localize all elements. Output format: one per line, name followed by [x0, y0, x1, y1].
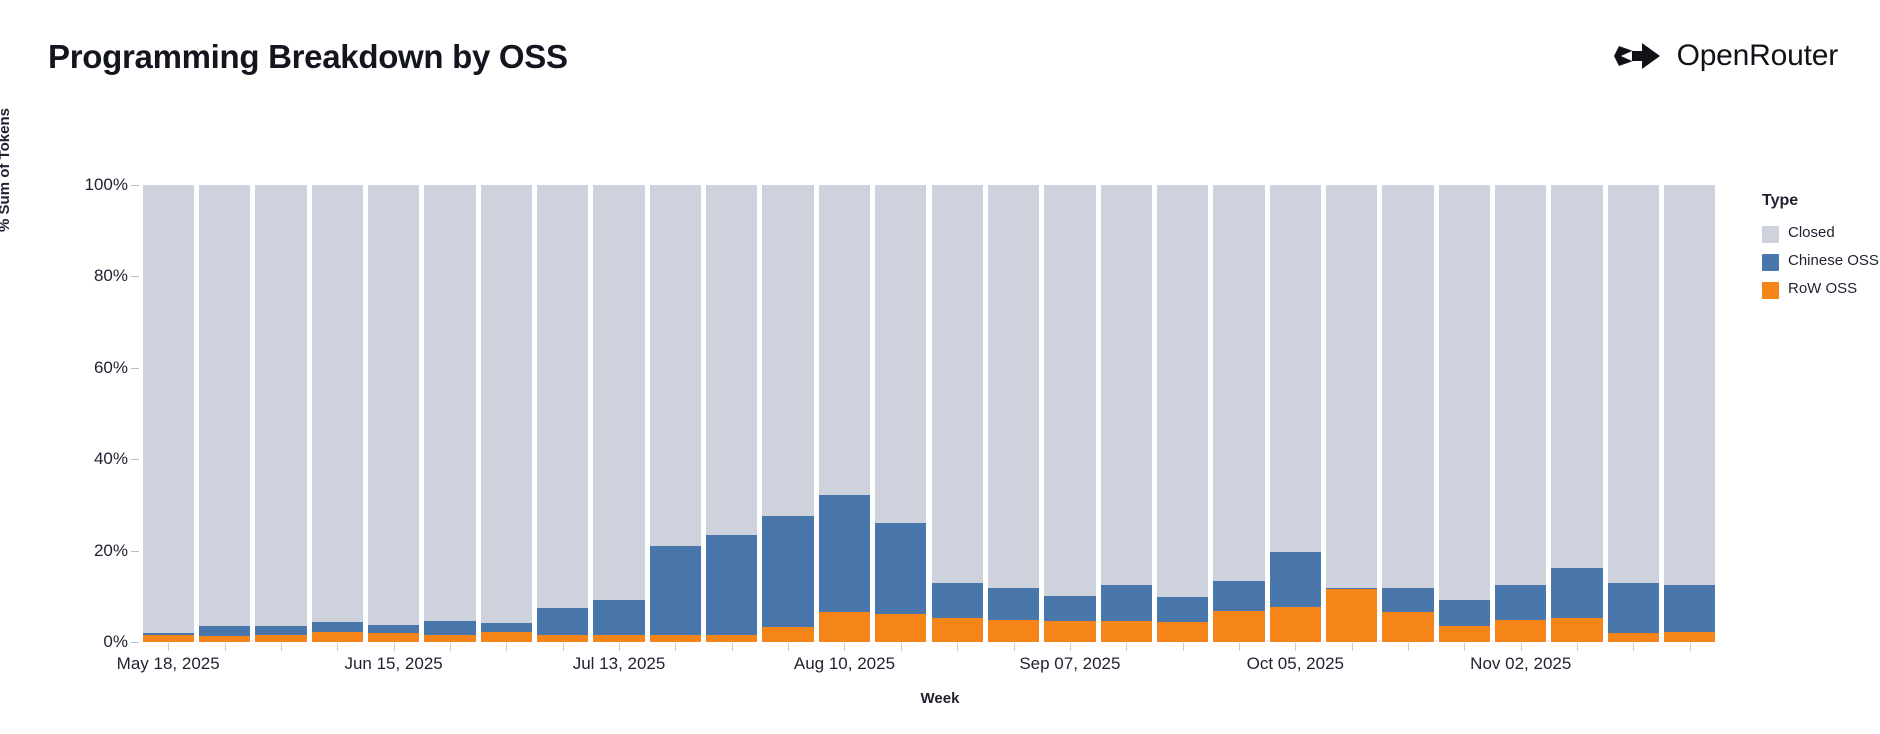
x-tick-label: Aug 10, 2025: [794, 654, 895, 674]
bar-segment-chinese-oss[interactable]: [762, 516, 813, 627]
bar-segment-chinese-oss[interactable]: [1157, 597, 1208, 622]
bar-group[interactable]: [537, 185, 588, 642]
x-tick-mark: [281, 643, 282, 651]
y-axis-title: % Sum of Tokens: [0, 40, 13, 300]
bar-segment-closed[interactable]: [762, 185, 813, 516]
bar-segment-closed[interactable]: [988, 185, 1039, 588]
bar-group[interactable]: [1270, 185, 1321, 642]
bar-segment-chinese-oss[interactable]: [312, 622, 363, 632]
y-tick-mark: [131, 551, 139, 552]
bar-segment-closed[interactable]: [593, 185, 644, 599]
bar-segment-row-oss[interactable]: [1044, 621, 1095, 642]
bar-segment-chinese-oss[interactable]: [932, 583, 983, 618]
bar-segment-row-oss[interactable]: [932, 618, 983, 642]
bar-segment-chinese-oss[interactable]: [1382, 588, 1433, 612]
bar-segment-chinese-oss[interactable]: [143, 633, 194, 635]
bar-group[interactable]: [988, 185, 1039, 642]
bar-segment-closed[interactable]: [368, 185, 419, 625]
bar-segment-row-oss[interactable]: [312, 632, 363, 642]
bar-segment-closed[interactable]: [650, 185, 701, 546]
bar-segment-chinese-oss[interactable]: [1101, 585, 1152, 621]
x-tick-mark: [1577, 643, 1578, 651]
bar-segment-closed[interactable]: [312, 185, 363, 622]
bar-segment-chinese-oss[interactable]: [368, 625, 419, 634]
y-tick-label: 0%: [42, 632, 128, 652]
x-tick-label: Jun 15, 2025: [344, 654, 442, 674]
x-tick-mark: [619, 643, 620, 651]
bar-segment-chinese-oss[interactable]: [1044, 596, 1095, 621]
bar-segment-closed[interactable]: [481, 185, 532, 623]
bar-segment-closed[interactable]: [143, 185, 194, 633]
bar-segment-closed[interactable]: [1664, 185, 1715, 585]
bar-segment-row-oss[interactable]: [1495, 620, 1546, 642]
bar-segment-closed[interactable]: [1551, 185, 1602, 568]
bar-segment-closed[interactable]: [1044, 185, 1095, 596]
x-tick-mark: [1352, 643, 1353, 651]
bar-segment-closed[interactable]: [706, 185, 757, 535]
y-tick-label: 60%: [42, 358, 128, 378]
bar-segment-row-oss[interactable]: [819, 612, 870, 642]
bar-segment-row-oss[interactable]: [1157, 622, 1208, 642]
bar-segment-row-oss[interactable]: [537, 635, 588, 642]
bar-segment-closed[interactable]: [1157, 185, 1208, 597]
bar-segment-row-oss[interactable]: [1608, 633, 1659, 642]
x-tick-mark: [450, 643, 451, 651]
bar-segment-row-oss[interactable]: [199, 636, 250, 642]
bar-segment-row-oss[interactable]: [1551, 618, 1602, 642]
y-tick-label: 100%: [42, 175, 128, 195]
y-tick-mark: [131, 276, 139, 277]
bar-segment-closed[interactable]: [1326, 185, 1377, 588]
x-tick-mark: [1295, 643, 1296, 651]
bar-segment-row-oss[interactable]: [1382, 612, 1433, 642]
y-tick-label: 80%: [42, 266, 128, 286]
bar-group[interactable]: [312, 185, 363, 642]
bar-group[interactable]: [1213, 185, 1264, 642]
y-tick-mark: [131, 368, 139, 369]
bar-segment-chinese-oss[interactable]: [255, 626, 306, 635]
bar-segment-chinese-oss[interactable]: [706, 535, 757, 635]
x-tick-mark: [1070, 643, 1071, 651]
bar-segment-row-oss[interactable]: [875, 614, 926, 642]
bar-group[interactable]: [706, 185, 757, 642]
bar-group[interactable]: [255, 185, 306, 642]
bar-segment-closed[interactable]: [1101, 185, 1152, 585]
bar-segment-chinese-oss[interactable]: [1270, 552, 1321, 608]
bar-segment-closed[interactable]: [537, 185, 588, 608]
legend-title: Type: [1762, 192, 1880, 210]
bar-group[interactable]: [1495, 185, 1546, 642]
bar-group[interactable]: [199, 185, 250, 642]
x-tick-mark: [394, 643, 395, 651]
bar-segment-row-oss[interactable]: [593, 635, 644, 642]
x-tick-mark: [1464, 643, 1465, 651]
x-tick-label: Sep 07, 2025: [1019, 654, 1120, 674]
bar-segment-chinese-oss[interactable]: [819, 495, 870, 612]
legend-swatch-icon: [1762, 254, 1779, 271]
x-tick-mark: [732, 643, 733, 651]
bar-group[interactable]: [1326, 185, 1377, 642]
x-axis-title-wrap: Week: [0, 690, 1880, 707]
x-tick-mark: [563, 643, 564, 651]
bar-segment-row-oss[interactable]: [1326, 589, 1377, 642]
bar-segment-row-oss[interactable]: [1664, 632, 1715, 643]
legend-label: Chinese OSS: [1788, 252, 1879, 269]
chart-canvas: % Sum of Tokens 0%20%40%60%80%100% May 1…: [0, 0, 1880, 734]
bar-segment-row-oss[interactable]: [143, 635, 194, 642]
bar-segment-chinese-oss[interactable]: [537, 608, 588, 635]
bar-segment-closed[interactable]: [1213, 185, 1264, 581]
x-tick-mark: [506, 643, 507, 651]
legend-label: Closed: [1788, 224, 1835, 241]
bar-group[interactable]: [819, 185, 870, 642]
bar-group[interactable]: [1101, 185, 1152, 642]
bar-segment-chinese-oss[interactable]: [650, 546, 701, 635]
x-tick-label: Nov 02, 2025: [1470, 654, 1571, 674]
x-tick-mark: [1633, 643, 1634, 651]
bar-segment-closed[interactable]: [1439, 185, 1490, 600]
legend-items: ClosedChinese OSSRoW OSS: [1762, 224, 1880, 299]
legend-label: RoW OSS: [1788, 280, 1857, 297]
x-tick-mark: [1408, 643, 1409, 651]
bar-group[interactable]: [650, 185, 701, 642]
bar-segment-closed[interactable]: [424, 185, 475, 621]
bar-group[interactable]: [932, 185, 983, 642]
bar-group[interactable]: [1551, 185, 1602, 642]
x-tick-mark: [844, 643, 845, 651]
x-tick-mark: [1183, 643, 1184, 651]
bar-segment-row-oss[interactable]: [706, 635, 757, 642]
legend-swatch-icon: [1762, 282, 1779, 299]
bar-group[interactable]: [1664, 185, 1715, 642]
bar-segment-closed[interactable]: [819, 185, 870, 495]
bar-segment-closed[interactable]: [199, 185, 250, 626]
x-tick-mark: [901, 643, 902, 651]
bar-segment-row-oss[interactable]: [762, 627, 813, 642]
bar-segment-closed[interactable]: [932, 185, 983, 583]
bar-segment-chinese-oss[interactable]: [1608, 583, 1659, 633]
bar-segment-chinese-oss[interactable]: [1439, 600, 1490, 625]
bar-segment-chinese-oss[interactable]: [1213, 581, 1264, 611]
bar-segment-chinese-oss[interactable]: [1326, 588, 1377, 590]
bar-segment-row-oss[interactable]: [481, 632, 532, 642]
bar-segment-closed[interactable]: [1382, 185, 1433, 588]
y-tick-mark: [131, 642, 139, 643]
y-tick-mark: [131, 185, 139, 186]
bar-segment-chinese-oss[interactable]: [199, 626, 250, 637]
x-tick-mark: [957, 643, 958, 651]
x-tick-mark: [1521, 643, 1522, 651]
bar-segment-chinese-oss[interactable]: [1495, 585, 1546, 620]
bar-segment-row-oss[interactable]: [1213, 611, 1264, 642]
bar-group[interactable]: [1439, 185, 1490, 642]
legend-item-row-oss[interactable]: RoW OSS: [1762, 280, 1880, 299]
bar-segment-row-oss[interactable]: [650, 635, 701, 642]
x-axis-title: Week: [921, 690, 960, 707]
y-tick-label: 40%: [42, 449, 128, 469]
x-tick-mark: [788, 643, 789, 651]
bar-segment-chinese-oss[interactable]: [1551, 568, 1602, 617]
bar-group[interactable]: [424, 185, 475, 642]
bar-segment-closed[interactable]: [1608, 185, 1659, 583]
bar-segment-row-oss[interactable]: [1270, 607, 1321, 642]
bar-group[interactable]: [1608, 185, 1659, 642]
bar-segment-chinese-oss[interactable]: [988, 588, 1039, 620]
x-tick-label: Jul 13, 2025: [573, 654, 666, 674]
bar-group[interactable]: [481, 185, 532, 642]
y-tick-mark: [131, 459, 139, 460]
bar-segment-row-oss[interactable]: [988, 620, 1039, 642]
x-tick-label: May 18, 2025: [117, 654, 220, 674]
bar-segment-chinese-oss[interactable]: [424, 621, 475, 636]
bar-segment-closed[interactable]: [875, 185, 926, 523]
bar-group[interactable]: [762, 185, 813, 642]
bar-segment-row-oss[interactable]: [1439, 626, 1490, 642]
x-tick-mark: [675, 643, 676, 651]
bar-segment-row-oss[interactable]: [1101, 621, 1152, 642]
bar-segment-row-oss[interactable]: [368, 633, 419, 642]
bar-segment-closed[interactable]: [1270, 185, 1321, 552]
bar-group[interactable]: [143, 185, 194, 642]
bar-segment-row-oss[interactable]: [255, 635, 306, 642]
bar-segment-chinese-oss[interactable]: [1664, 585, 1715, 631]
bar-group[interactable]: [1382, 185, 1433, 642]
bar-segment-chinese-oss[interactable]: [593, 600, 644, 635]
legend-item-chinese-oss[interactable]: Chinese OSS: [1762, 252, 1880, 271]
x-tick-mark: [168, 643, 169, 651]
x-tick-mark: [337, 643, 338, 651]
x-tick-mark: [1690, 643, 1691, 651]
x-tick-mark: [1239, 643, 1240, 651]
y-tick-label: 20%: [42, 541, 128, 561]
x-tick-mark: [225, 643, 226, 651]
x-tick-mark: [1014, 643, 1015, 651]
bar-group[interactable]: [875, 185, 926, 642]
x-tick-mark: [1126, 643, 1127, 651]
bar-segment-closed[interactable]: [1495, 185, 1546, 585]
bar-segment-closed[interactable]: [255, 185, 306, 626]
bar-group[interactable]: [1157, 185, 1208, 642]
legend-swatch-icon: [1762, 226, 1779, 243]
bar-group[interactable]: [593, 185, 644, 642]
bar-group[interactable]: [1044, 185, 1095, 642]
plot-area: [140, 185, 1718, 642]
bar-segment-row-oss[interactable]: [424, 635, 475, 642]
bar-segment-chinese-oss[interactable]: [875, 523, 926, 613]
legend: Type ClosedChinese OSSRoW OSS: [1762, 192, 1880, 308]
x-tick-label: Oct 05, 2025: [1247, 654, 1344, 674]
bar-group[interactable]: [368, 185, 419, 642]
bar-segment-chinese-oss[interactable]: [481, 623, 532, 632]
legend-item-closed[interactable]: Closed: [1762, 224, 1880, 243]
